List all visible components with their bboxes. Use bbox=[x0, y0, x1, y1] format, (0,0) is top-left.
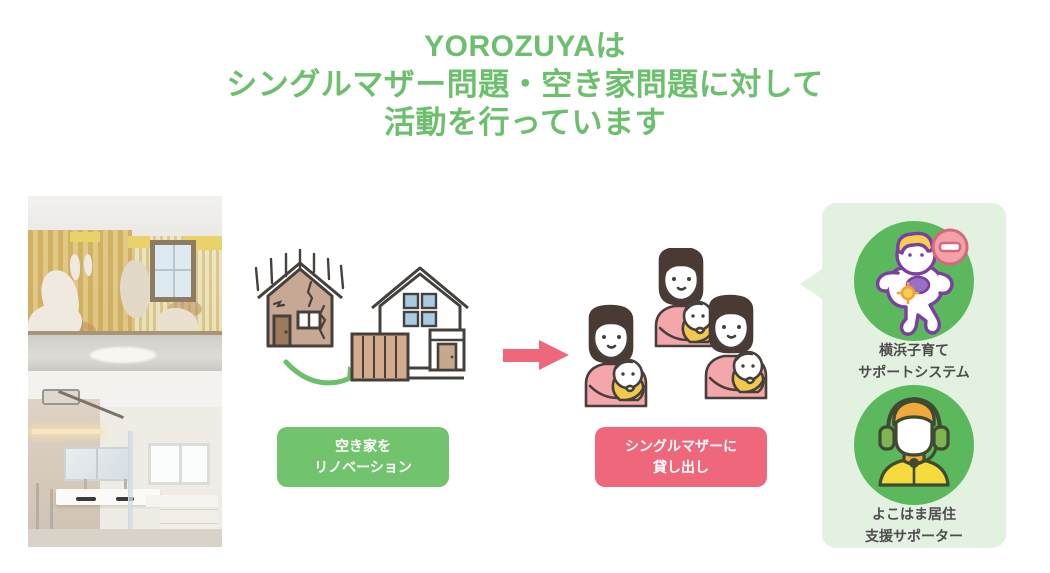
photo-window bbox=[148, 443, 210, 485]
arrow-right-icon bbox=[503, 340, 569, 370]
page-title: YOROZUYAは シングルマザー問題・空き家問題に対して 活動を行っています bbox=[0, 28, 1050, 142]
support-services-panel: 横浜子育て サポートシステム bbox=[822, 203, 1006, 548]
renovation-button-line-1: 空き家を bbox=[335, 436, 391, 457]
photo-peeling-wallpaper bbox=[84, 254, 92, 276]
rental-button-line-2: 貸し出し bbox=[653, 457, 709, 478]
photo-window bbox=[150, 240, 196, 302]
renovated-house-icon bbox=[352, 268, 468, 380]
after-renovation-photo bbox=[28, 371, 222, 547]
housing-supporter-label-line-2: 支援サポーター bbox=[822, 525, 1006, 547]
baby-support-label-line-1: 横浜子育て bbox=[822, 339, 1006, 361]
mother-with-baby bbox=[586, 306, 646, 406]
photo-light-strip bbox=[32, 429, 100, 434]
baby-icon-circle[interactable] bbox=[854, 221, 974, 341]
baby-icon bbox=[854, 221, 974, 341]
photo-yellow-strip bbox=[70, 232, 100, 242]
slide-canvas: YOROZUYAは シングルマザー問題・空き家問題に対して 活動を行っています bbox=[0, 0, 1050, 573]
photo-mirror bbox=[64, 447, 130, 481]
photo-bench bbox=[146, 495, 218, 507]
page-title-line-2: シングルマザー問題・空き家問題に対して bbox=[0, 66, 1050, 104]
photo-sink-slot bbox=[76, 497, 96, 501]
speech-bubble-tail bbox=[800, 269, 822, 299]
page-title-line-1: YOROZUYAは bbox=[0, 28, 1050, 66]
photo-floor bbox=[28, 529, 222, 547]
renovation-photo-pair bbox=[28, 196, 222, 547]
minus-badge-icon bbox=[933, 230, 967, 264]
photo-yellow-strip bbox=[128, 236, 150, 248]
housing-supporter-label-line-1: よこはま居住 bbox=[822, 503, 1006, 525]
photo-shower-fixture bbox=[50, 489, 53, 533]
photo-floor-reflection bbox=[90, 347, 156, 363]
mother-with-baby bbox=[706, 296, 766, 398]
renovation-button[interactable]: 空き家を リノベーション bbox=[277, 427, 449, 487]
photo-peeling-wallpaper bbox=[120, 260, 150, 318]
baby-support-label: 横浜子育て サポートシステム bbox=[822, 339, 1006, 383]
rental-button-line-1: シングルマザーに bbox=[625, 436, 737, 457]
baby-support-label-line-2: サポートシステム bbox=[822, 361, 1006, 383]
renovation-illustration bbox=[248, 246, 498, 406]
support-agent-icon-circle[interactable] bbox=[854, 385, 974, 505]
mother-with-baby bbox=[656, 248, 716, 346]
photo-peeling-wallpaper bbox=[70, 254, 80, 280]
page-title-line-3: 活動を行っています bbox=[0, 104, 1050, 142]
before-renovation-photo bbox=[28, 196, 222, 371]
renovation-arrow-icon bbox=[286, 362, 360, 383]
housing-supporter-label: よこはま居住 支援サポーター bbox=[822, 503, 1006, 547]
renovation-button-line-2: リノベーション bbox=[314, 457, 412, 478]
single-mothers-illustration bbox=[580, 248, 784, 410]
photo-vanity-counter bbox=[56, 489, 160, 505]
rental-button[interactable]: シングルマザーに 貸し出し bbox=[595, 427, 767, 487]
support-agent-icon bbox=[854, 385, 974, 505]
handover-arrow bbox=[503, 338, 573, 372]
